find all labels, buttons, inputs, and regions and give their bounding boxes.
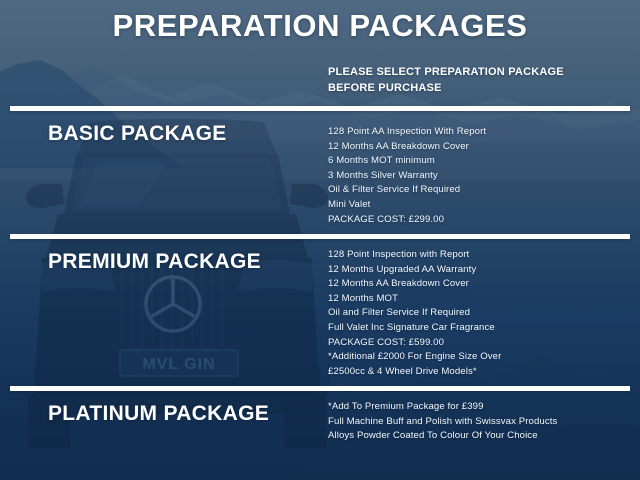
divider-above-basic <box>10 106 630 111</box>
package-features-basic: 128 Point AA Inspection With Report 12 M… <box>328 125 486 227</box>
page-title: PREPARATION PACKAGES <box>0 8 640 44</box>
package-cost-platinum: *Add To Premium Package for £399 <box>328 400 557 415</box>
list-item: *Additional £2000 For Engine Size Over <box>328 350 501 365</box>
package-features-premium: 128 Point Inspection with Report 12 Mont… <box>328 248 501 379</box>
package-title-platinum[interactable]: PLATINUM PACKAGE <box>48 402 269 426</box>
package-cost-basic: PACKAGE COST: £299.00 <box>328 213 486 228</box>
selection-instruction-line-1: PLEASE SELECT PREPARATION PACKAGE <box>328 64 564 80</box>
content-overlay: PREPARATION PACKAGES PLEASE SELECT PREPA… <box>0 0 640 480</box>
divider-above-platinum <box>10 386 630 391</box>
list-item: 12 Months MOT <box>328 292 501 307</box>
list-item: 12 Months Upgraded AA Warranty <box>328 263 501 278</box>
preparation-packages-banner: MVL GIN PREPARATION PACKAGES PLEASE SELE… <box>0 0 640 480</box>
selection-instruction-line-2: BEFORE PURCHASE <box>328 80 564 96</box>
list-item: Full Machine Buff and Polish with Swissv… <box>328 415 557 430</box>
list-item: Oil & Filter Service If Required <box>328 183 486 198</box>
list-item: 12 Months AA Breakdown Cover <box>328 277 501 292</box>
list-item: Alloys Powder Coated To Colour Of Your C… <box>328 429 557 444</box>
package-features-platinum: *Add To Premium Package for £399 Full Ma… <box>328 400 557 444</box>
package-title-premium[interactable]: PREMIUM PACKAGE <box>48 250 261 274</box>
list-item: 12 Months AA Breakdown Cover <box>328 140 486 155</box>
list-item: 6 Months MOT minimum <box>328 154 486 169</box>
list-item: 3 Months Silver Warranty <box>328 169 486 184</box>
list-item: Full Valet Inc Signature Car Fragrance <box>328 321 501 336</box>
list-item: 128 Point AA Inspection With Report <box>328 125 486 140</box>
package-title-basic[interactable]: BASIC PACKAGE <box>48 122 227 146</box>
selection-instruction: PLEASE SELECT PREPARATION PACKAGE BEFORE… <box>328 64 564 96</box>
list-item: 128 Point Inspection with Report <box>328 248 501 263</box>
list-item: Oil and Filter Service If Required <box>328 306 501 321</box>
package-cost-premium: PACKAGE COST: £599.00 <box>328 336 501 351</box>
list-item: Mini Valet <box>328 198 486 213</box>
divider-above-premium <box>10 234 630 239</box>
list-item: £2500cc & 4 Wheel Drive Models* <box>328 365 501 380</box>
